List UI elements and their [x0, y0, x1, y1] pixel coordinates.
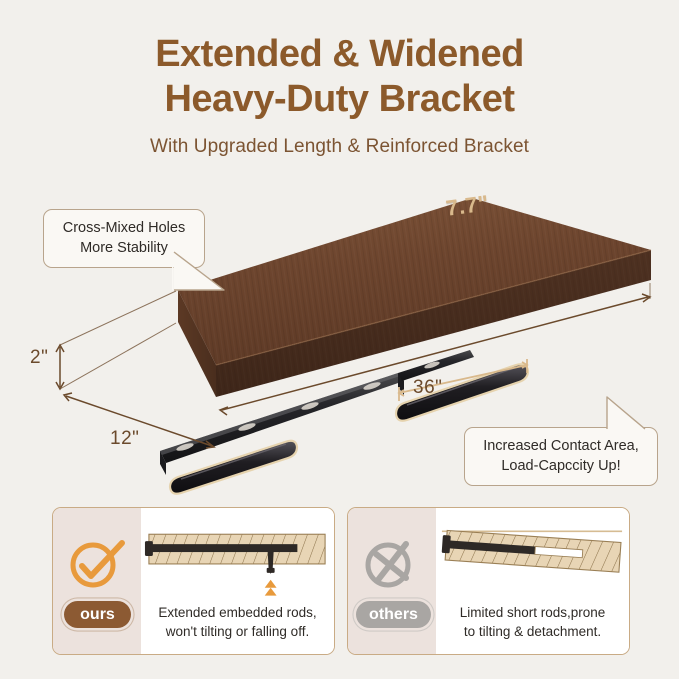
badge-ours: ours [64, 601, 131, 628]
check-circle-icon [67, 538, 127, 594]
panel-others-side: others [348, 508, 436, 654]
page-title: Extended & Widened Heavy-Duty Bracket [0, 32, 679, 122]
comparison-panel-others: others [347, 507, 630, 655]
panel-others-caption-line-2: to tilting & detachment. [442, 623, 623, 642]
ours-diagram [141, 512, 334, 604]
embedded-rod [151, 544, 297, 552]
panel-others-caption: Limited short rods,prone to tilting & de… [436, 604, 629, 642]
panel-ours-caption-line-1: Extended embedded rods, [147, 604, 328, 623]
dimension-label-depth: 12" [110, 428, 139, 450]
badge-others: others [356, 601, 431, 628]
callout-cross-mixed-holes: Cross-Mixed Holes More Stability [43, 209, 205, 268]
panel-others-caption-line-1: Limited short rods,prone [442, 604, 623, 623]
shelf-board [178, 198, 651, 397]
panel-others-main: Limited short rods,prone to tilting & de… [436, 508, 629, 654]
others-diagram [436, 512, 629, 604]
callout-right-line-2: Load-Capccity Up! [477, 457, 645, 477]
callout-increased-contact-area: Increased Contact Area, Load-Capccity Up… [464, 427, 658, 486]
callout-right-tail [593, 395, 651, 433]
panel-ours-main: Extended embedded rods, won't tilting or… [141, 508, 334, 654]
panel-ours-side: ours [53, 508, 141, 654]
comparison-panel-ours: ours [52, 507, 335, 655]
callout-right-line-1: Increased Contact Area, [477, 437, 645, 457]
dimension-thickness-arrow [56, 345, 64, 389]
dimension-label-thickness: 2" [30, 347, 48, 369]
headline-line-1: Extended & Widened [155, 33, 524, 75]
product-infographic: Extended & Widened Heavy-Duty Bracket Wi… [0, 0, 679, 679]
panel-ours-caption: Extended embedded rods, won't tilting or… [141, 604, 334, 642]
callout-left-line-1: Cross-Mixed Holes [56, 219, 192, 239]
panel-ours-caption-line-2: won't tilting or falling off. [147, 623, 328, 642]
callout-left-tail [172, 250, 232, 296]
dimension-label-length: 36" [413, 377, 442, 399]
page-subtitle: With Upgraded Length & Reinforced Bracke… [0, 136, 679, 158]
headline-line-2: Heavy-Duty Bracket [0, 77, 679, 122]
x-circle-icon [362, 538, 422, 594]
up-arrow-icon [265, 580, 277, 596]
